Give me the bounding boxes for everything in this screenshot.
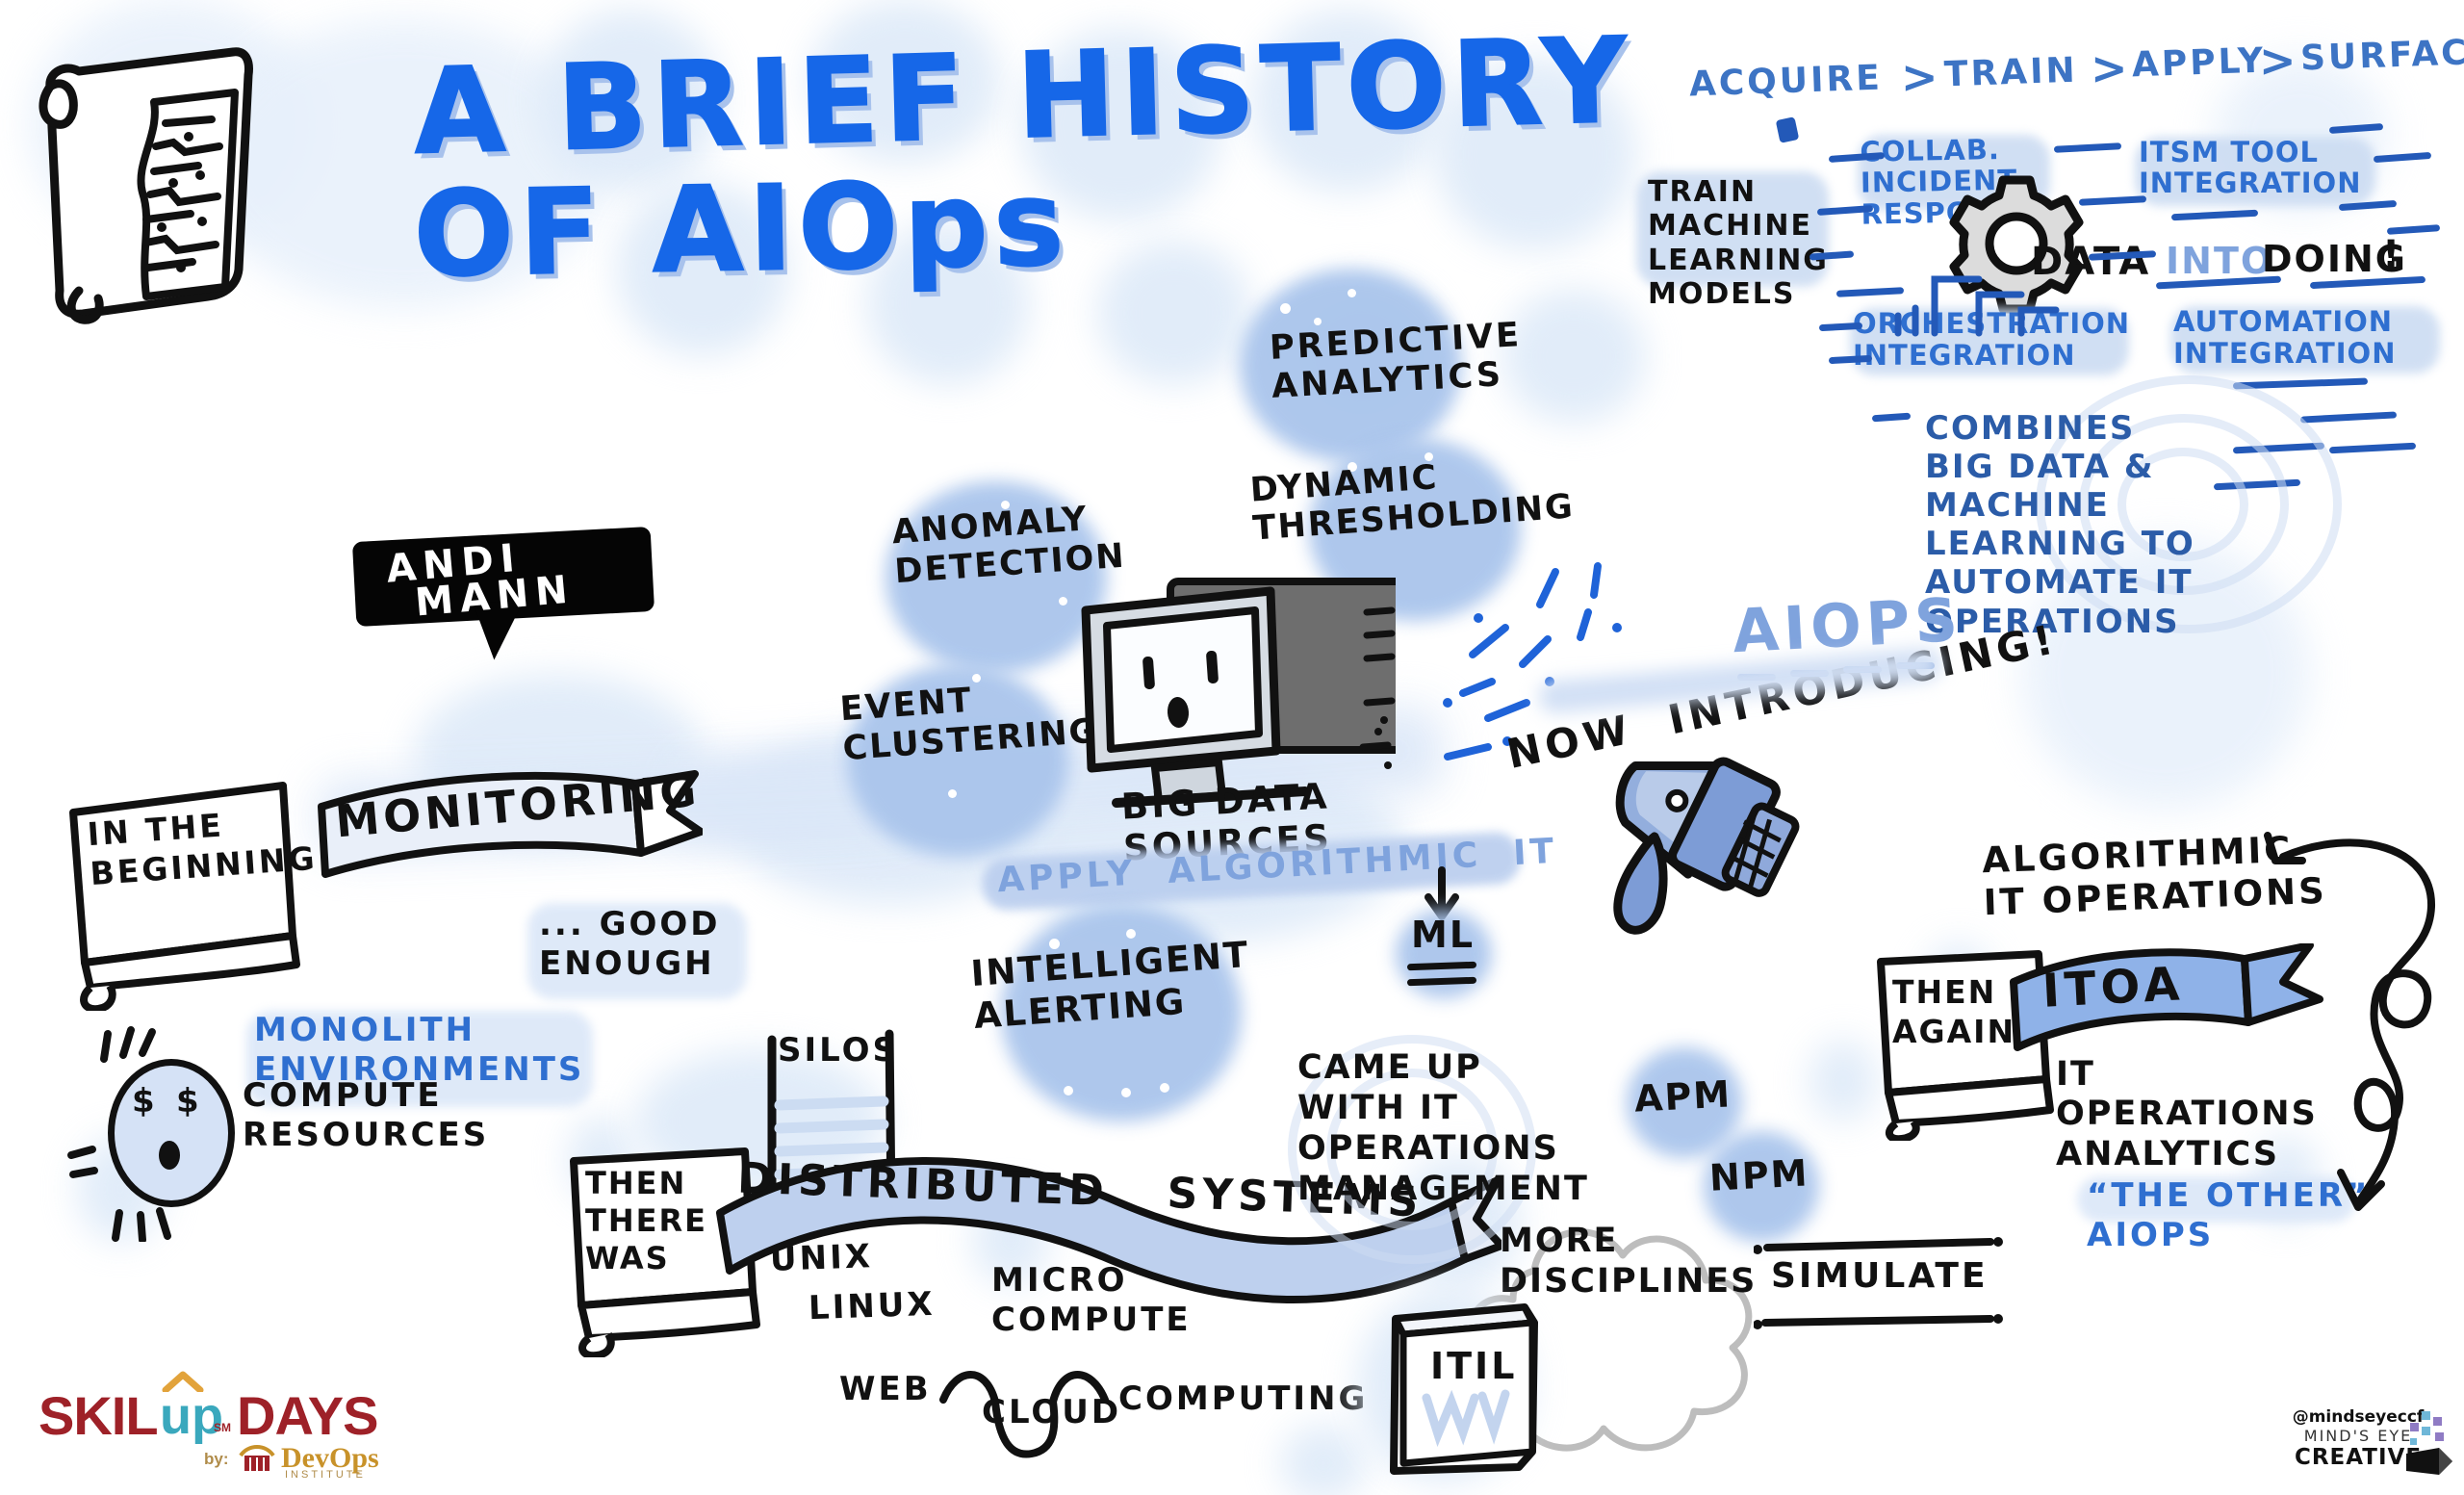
sparkle-dot (1314, 318, 1322, 325)
in-the-beginning-label: IN THE BEGINNING (86, 799, 318, 894)
pipeline-separator-icon: > (1901, 53, 1940, 103)
unix-label: UNIX (769, 1238, 873, 1278)
dash-mark (2171, 210, 2258, 221)
sparkle-dot (1347, 289, 1356, 297)
megaphone-icon (1582, 699, 1826, 967)
linux-label: LINUX (808, 1286, 936, 1327)
dash-mark (2329, 443, 2416, 454)
then-there-was-label: THEN THERE WAS (585, 1165, 707, 1277)
skilup-days-logo: SKIL up SM DAYS by: DevOps INSTITUTE (38, 1384, 385, 1481)
skilup-up-text: up (160, 1386, 223, 1446)
good-enough-label: ... GOOD ENOUGH (539, 905, 721, 985)
sparkle-dot (1280, 303, 1291, 314)
pipeline-step-surface: SURFACE (2299, 33, 2464, 78)
devops-institute-icon (237, 1442, 277, 1475)
pipeline-step-train: TRAIN (1943, 52, 2078, 95)
sketchnote-canvas: A BRIEF HISTORY OF AIOps ANDI MANN ACQUI… (0, 0, 2464, 1495)
exclamation-label: ! (2382, 234, 2401, 277)
dynamic-thresholding-label: DYNAMIC THRESHOLDING (1249, 449, 1576, 549)
speaker-name-bubble: ANDI MANN (352, 527, 654, 627)
micro-compute-label: MICRO COMPUTE (991, 1261, 1192, 1340)
automation-integration-label: AUTOMATION INTEGRATION (2173, 306, 2396, 370)
page-title-line2: OF AIOps (413, 158, 1070, 300)
dash-mark (2079, 195, 2146, 206)
bg-blob (1501, 289, 1646, 424)
bracket-scribbles (1886, 241, 2060, 337)
sparkle-dot (948, 789, 957, 798)
face-spark-marks (58, 1020, 269, 1242)
sparkle-dot (1160, 1083, 1169, 1093)
combines-description: COMBINES BIG DATA & MACHINE LEARNING TO … (1925, 409, 2195, 641)
mindseye-creative-logo: @mindseyeccf MIND'S EYE CREATIVE (2262, 1407, 2454, 1484)
pixel-squares-icon (2408, 1409, 2451, 1448)
itoa-label: ITOA (2041, 959, 2186, 1018)
dash-mark (1872, 413, 1911, 423)
dash-mark (2387, 224, 2440, 235)
web-label: WEB (839, 1371, 932, 1407)
pencil-icon (2404, 1446, 2456, 1479)
sparkle-dot (1126, 929, 1136, 939)
simulate-label: SIMULATE (1771, 1257, 1989, 1296)
itil-label: ITIL (1430, 1346, 1517, 1387)
bg-blob (1280, 1425, 1367, 1495)
pipeline-step-acquire: ACQUIRE (1688, 60, 1883, 105)
scroll-illustration (19, 29, 269, 337)
predictive-analytics-label: PREDICTIVE ANALYTICS (1269, 316, 1525, 406)
more-disciplines-label: MORE DISCIPLINES (1500, 1221, 1757, 1302)
bg-blob (1809, 1040, 1877, 1121)
institute-text: INSTITUTE (285, 1469, 366, 1481)
itil-book-icon (1386, 1302, 1559, 1475)
bg-blob (1097, 241, 1251, 385)
skilup-by-text: by: (204, 1450, 229, 1469)
sparkle-dot (1059, 597, 1067, 606)
computing-label: COMPUTING (1118, 1380, 1368, 1417)
squiggle-arrow-icon (2252, 818, 2464, 1223)
train-models-label: TRAIN MACHINE LEARNING MODELS (1648, 175, 1829, 312)
skilup-sm-mark: SM (214, 1421, 231, 1434)
dash-mark (2054, 142, 2121, 153)
skilup-roof-icon (162, 1371, 204, 1392)
pipeline-separator-icon: > (2259, 37, 2298, 87)
sparkle-dot (1121, 1088, 1131, 1097)
into-label: INTO (2166, 241, 2273, 282)
ml-badge-label: ML (1411, 915, 1475, 956)
skilup-skil-text: SKIL (38, 1384, 158, 1447)
silos-label: SILOS (778, 1032, 899, 1069)
pipeline-separator-icon: > (2091, 44, 2130, 94)
pipeline-step-apply: APPLY (2131, 42, 2266, 86)
dash-mark (1776, 116, 1800, 143)
skilup-days-text: DAYS (237, 1384, 377, 1447)
itsm-tool-integration-label: ITSM TOOL INTEGRATION (2139, 137, 2361, 199)
sparkle-dot (1064, 1086, 1073, 1095)
then-again-label: THEN AGAIN (1892, 972, 2015, 1052)
dash-mark (2300, 411, 2397, 423)
compute-resources-label: COMPUTE RESOURCES (243, 1076, 489, 1155)
cloud-label: CLOUD (982, 1394, 1121, 1431)
apm-label: APM (1633, 1073, 1732, 1120)
